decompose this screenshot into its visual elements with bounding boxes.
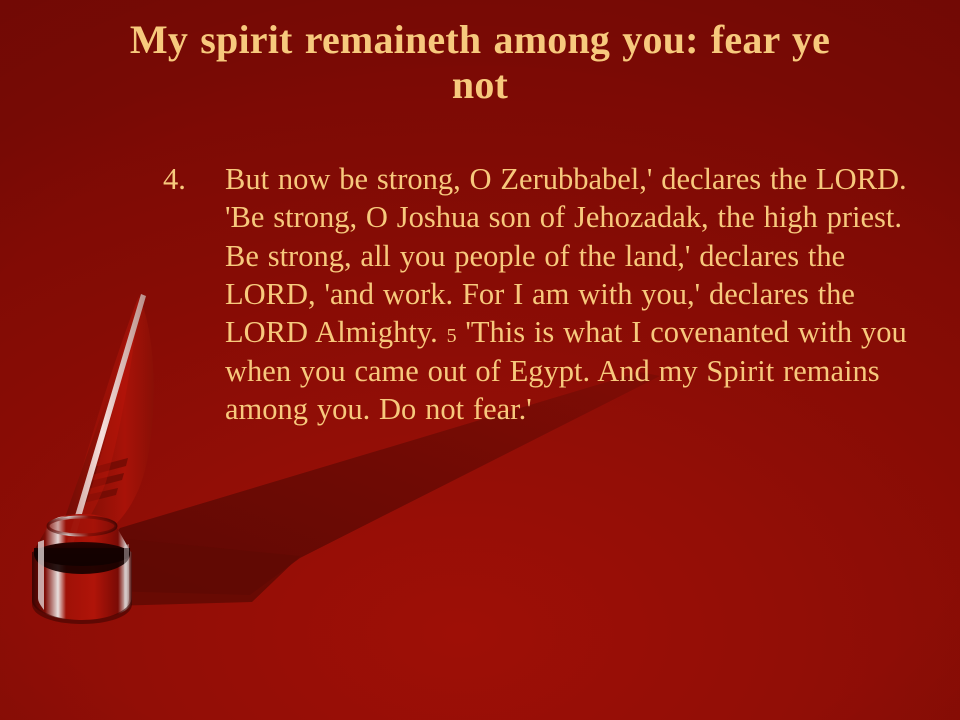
slide-body-placeholder: 4.But now be strong, O Zerubbabel,' decl… xyxy=(163,160,918,429)
slide-title-placeholder: My spirit remaineth among you: fear ye n… xyxy=(96,18,864,108)
page-title: My spirit remaineth among you: fear ye n… xyxy=(96,18,864,108)
verse-number: 5 xyxy=(447,325,457,347)
list-item-number: 4. xyxy=(163,160,205,198)
list-item: 4.But now be strong, O Zerubbabel,' decl… xyxy=(163,160,918,429)
presentation-slide: My spirit remaineth among you: fear ye n… xyxy=(0,0,960,720)
